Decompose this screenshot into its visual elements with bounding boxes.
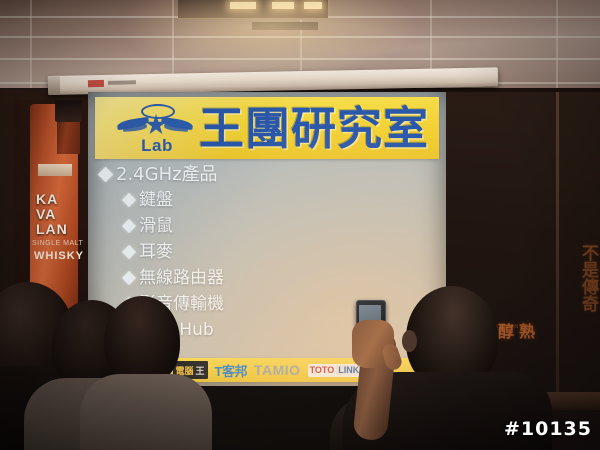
sponsor-logo-tamio: TAMIO — [254, 362, 301, 378]
bullet-item: 滑鼠 — [124, 215, 428, 237]
lab-logo: Lab — [117, 101, 195, 157]
kavalan-brand-text: KA — [36, 192, 80, 207]
bullet-item: 耳麥 — [124, 241, 428, 263]
bullet-label: 2.4GHz產品 — [116, 164, 218, 186]
diamond-bullet-icon — [122, 219, 136, 233]
wall-slogan: 醇熟 — [498, 318, 540, 342]
sponsor-logo-totolink: TOTO LINK — [308, 364, 362, 377]
roller-brand-logo — [88, 80, 104, 87]
kavalan-brand-text-3: LAN — [36, 222, 80, 237]
watermark: #10135 — [504, 418, 592, 440]
slide-title: 王團研究室 — [199, 101, 429, 157]
bullet-label: 耳麥 — [139, 241, 173, 263]
sponsor-text: LINK — [336, 365, 361, 375]
kavalan-subtitle: SINGLE MALT — [32, 240, 86, 247]
bullet-label: 鍵盤 — [139, 189, 173, 211]
audience-head — [104, 296, 180, 386]
diamond-bullet-icon — [122, 271, 136, 285]
bullet-item: 2.4GHz產品 — [100, 164, 428, 186]
kavalan-product-text: WHISKY — [34, 250, 86, 262]
sponsor-text: TOTO — [308, 365, 337, 375]
bullet-item: 無線路由器 — [124, 267, 428, 289]
slide-title-banner: Lab 王團研究室 — [95, 97, 439, 159]
bullet-item: 鍵盤 — [124, 189, 428, 211]
lab-logo-text: Lab — [131, 136, 183, 156]
sponsor-logo-tkb: T客邦 — [215, 361, 247, 380]
diamond-bullet-icon — [122, 245, 136, 259]
sponsor-text: 王 — [196, 364, 205, 377]
kavalan-brand-text-2: VA — [36, 207, 80, 222]
diamond-bullet-icon — [98, 167, 114, 183]
audience-body — [80, 374, 212, 450]
bullet-label: 滑鼠 — [139, 215, 173, 237]
wall-vertical-text: 不是傳奇 — [575, 244, 600, 312]
bullet-label: 無線路由器 — [139, 267, 224, 289]
diamond-bullet-icon — [122, 193, 136, 207]
photo-scene: KA VA LAN SINGLE MALT WHISKY KAVALAN 醇熟 … — [0, 0, 600, 450]
